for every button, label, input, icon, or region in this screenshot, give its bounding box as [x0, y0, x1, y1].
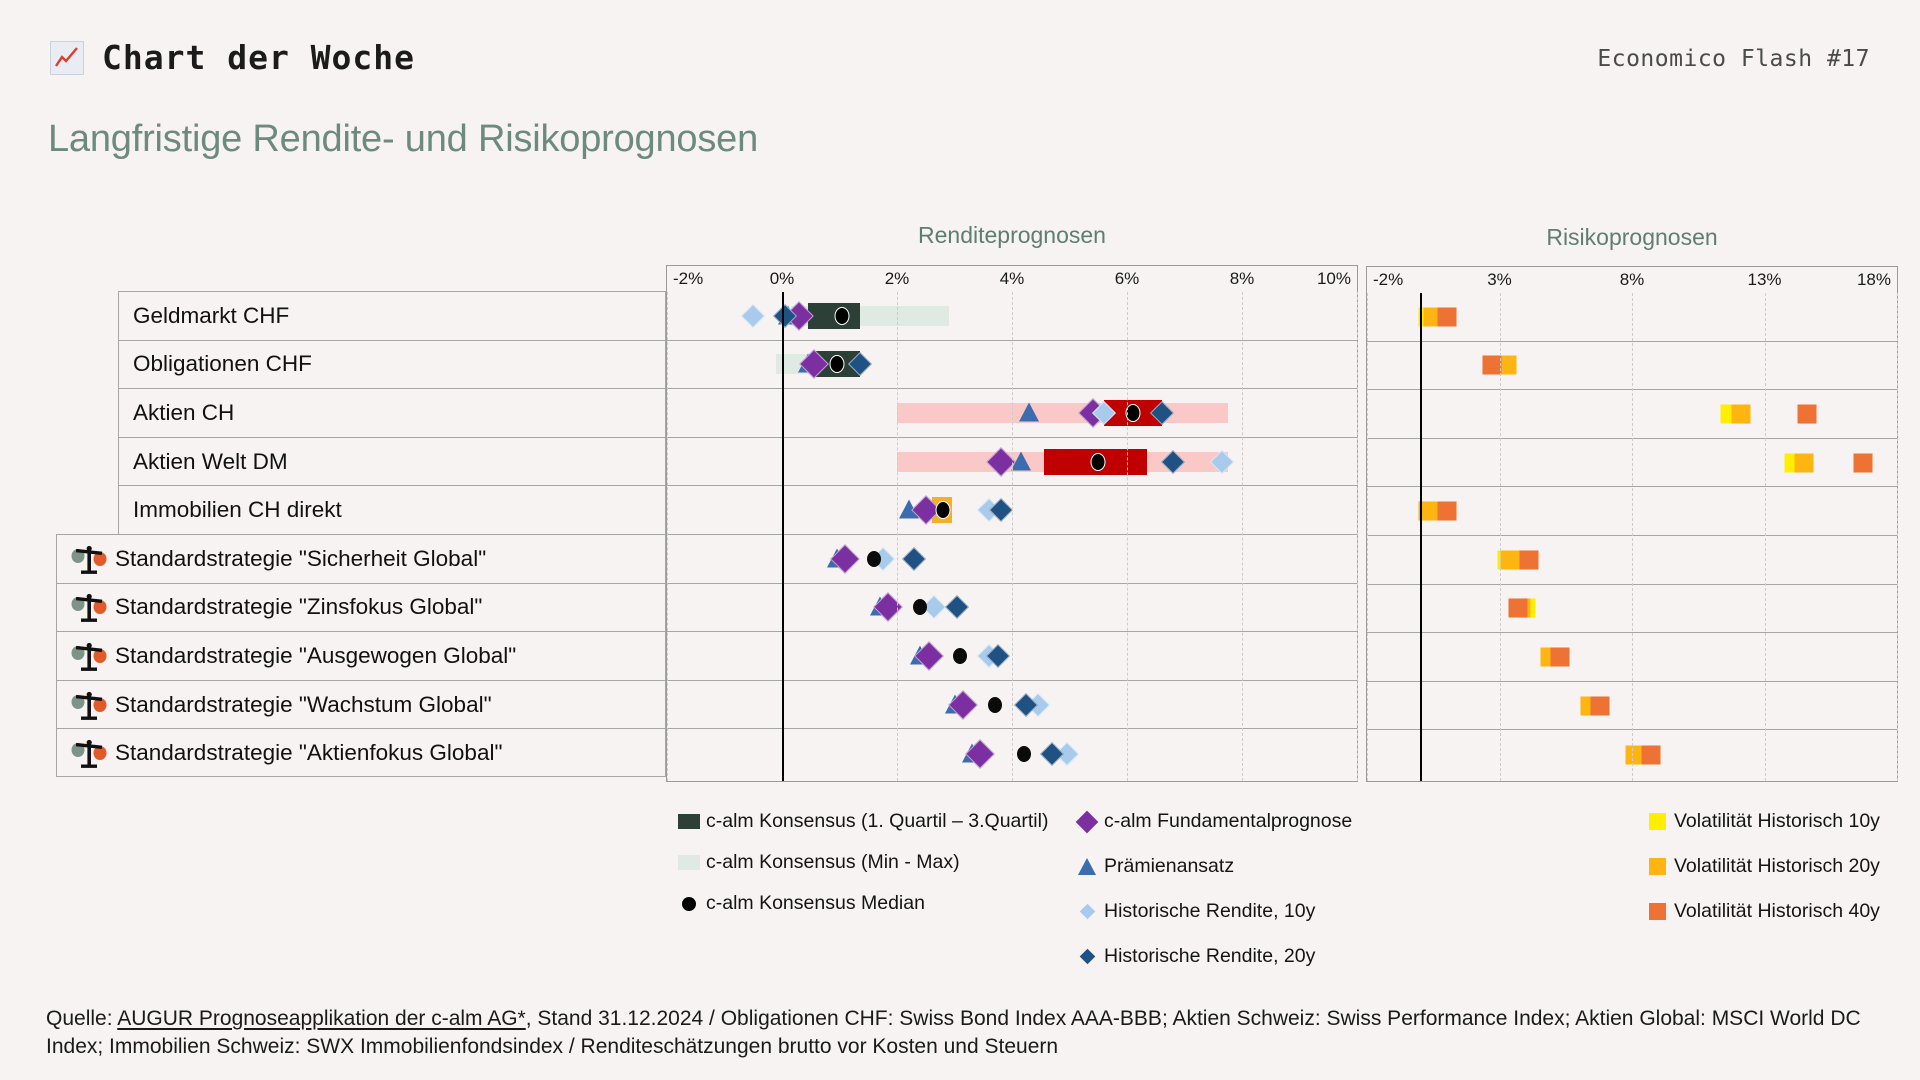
brand-row: Chart der Woche [50, 38, 415, 77]
tick-label: 4% [1000, 269, 1025, 289]
row-label-7[interactable]: Standardstrategie "Ausgewogen Global" [56, 631, 666, 680]
line-chart-icon [50, 41, 84, 75]
legend-swatch-square [1649, 903, 1666, 920]
volatility-marker [1641, 745, 1660, 764]
legend-swatch-wrap [1070, 814, 1104, 830]
tick-label: -2% [1373, 270, 1403, 290]
row-label-text: Geldmarkt CHF [133, 303, 289, 329]
tick-label: 8% [1230, 269, 1255, 289]
legend-swatch-wrap [1070, 906, 1104, 917]
grid-line [1357, 292, 1358, 781]
risiko-panel-title: Risikoprognosen [1366, 224, 1898, 251]
legend-swatch-wrap [1640, 903, 1674, 920]
grid-line [897, 292, 898, 781]
row-label-6[interactable]: Standardstrategie "Zinsfokus Global" [56, 583, 666, 632]
legend-forecasts: c-alm FundamentalprognosePrämienansatzHi… [1070, 810, 1352, 990]
tick-label: -2% [673, 269, 703, 289]
hist10-marker [741, 304, 765, 328]
legend-consensus: c-alm Konsensus (1. Quartil – 3.Quartil)… [672, 810, 1048, 933]
legend-swatch-diamond [1079, 949, 1095, 965]
legend-label: Volatilität Historisch 20y [1674, 855, 1880, 878]
median-marker [936, 501, 951, 519]
page-header: Chart der Woche Economico Flash #17 Lang… [0, 0, 1920, 180]
tick-label: 8% [1620, 270, 1645, 290]
volatility-marker [1437, 502, 1456, 521]
tick-label: 0% [770, 269, 795, 289]
legend-swatch-square [1649, 813, 1666, 830]
row-label-5[interactable]: Standardstrategie "Sicherheit Global" [56, 534, 666, 583]
row-label-text: Aktien CH [133, 400, 234, 426]
legend-label: Prämienansatz [1104, 855, 1234, 878]
row-label-table: Geldmarkt CHFObligationen CHFAktien CHAk… [118, 291, 666, 777]
legend-swatch-square [1649, 858, 1666, 875]
volatility-marker [1437, 307, 1456, 326]
legend-swatch-wrap [672, 814, 706, 829]
legend-swatch-triangle [1078, 858, 1096, 875]
legend-label: Historische Rendite, 10y [1104, 900, 1315, 923]
volatility-marker [1731, 404, 1750, 423]
grid-line [1012, 292, 1013, 781]
source-prefix: Quelle: [46, 1007, 117, 1030]
grid-line [667, 292, 668, 781]
legend-item[interactable]: c-alm Konsensus (Min - Max) [672, 851, 1048, 874]
legend-item[interactable]: Volatilität Historisch 10y [1640, 810, 1880, 833]
tick-label: 13% [1747, 270, 1781, 290]
volatility-marker [1519, 550, 1538, 569]
tick-label: 18% [1857, 270, 1891, 290]
page-subtitle: Langfristige Rendite- und Risikoprognose… [48, 118, 758, 161]
row-label-text: Standardstrategie "Sicherheit Global" [115, 546, 486, 572]
row-label-text: Aktien Welt DM [133, 449, 288, 475]
tick-label: 10% [1317, 269, 1351, 289]
row-label-text: Standardstrategie "Wachstum Global" [115, 692, 492, 718]
row-label-3[interactable]: Aktien Welt DM [118, 437, 666, 486]
grid-line [1127, 292, 1128, 781]
legend-label: Volatilität Historisch 40y [1674, 900, 1880, 923]
balance-scale-icon [69, 736, 109, 770]
row-label-text: Immobilien CH direkt [133, 497, 342, 523]
balance-scale-icon [69, 542, 109, 576]
risikoprognosen-chart: -2%3%8%13%18% [1366, 266, 1898, 782]
grid-line [1897, 293, 1898, 781]
volatility-marker [1551, 647, 1570, 666]
legend-item[interactable]: c-alm Fundamentalprognose [1070, 810, 1352, 833]
volatility-marker [1501, 550, 1520, 569]
tick-label: 3% [1487, 270, 1512, 290]
source-note: Quelle: AUGUR Prognoseapplikation der c-… [46, 1005, 1886, 1062]
legend-swatch-diamond [1076, 810, 1099, 833]
legend-volatility: Volatilität Historisch 10yVolatilität Hi… [1640, 810, 1880, 945]
legend-label: Historische Rendite, 20y [1104, 945, 1315, 968]
median-marker [913, 599, 927, 615]
legend-item[interactable]: Historische Rendite, 10y [1070, 900, 1352, 923]
row-label-2[interactable]: Aktien CH [118, 388, 666, 437]
legend-swatch-rect [678, 814, 700, 829]
consensus-iqr-bar [808, 303, 860, 329]
consensus-minmax-bar [897, 403, 1228, 423]
legend-label: c-alm Konsensus (1. Quartil – 3.Quartil) [706, 810, 1048, 833]
source-link[interactable]: AUGUR Prognoseapplikation der c-alm AG* [117, 1007, 526, 1030]
legend-swatch-wrap [672, 855, 706, 870]
legend-item[interactable]: Volatilität Historisch 40y [1640, 900, 1880, 923]
zero-line [1420, 293, 1422, 781]
risiko-x-axis: -2%3%8%13%18% [1367, 267, 1897, 293]
grid-line [1632, 293, 1633, 781]
row-label-4[interactable]: Immobilien CH direkt [118, 485, 666, 534]
balance-scale-icon [69, 590, 109, 624]
legend-swatch-wrap [1070, 858, 1104, 875]
balance-scale-icon [69, 688, 109, 722]
rendite-x-axis: -2%0%2%4%6%8%10% [667, 266, 1357, 292]
grid-line [1367, 293, 1368, 781]
flash-issue-label: Economico Flash #17 [1597, 46, 1870, 72]
row-label-1[interactable]: Obligationen CHF [118, 340, 666, 389]
row-label-text: Standardstrategie "Zinsfokus Global" [115, 594, 482, 620]
legend-label: c-alm Konsensus (Min - Max) [706, 851, 960, 874]
legend-item[interactable]: Volatilität Historisch 20y [1640, 855, 1880, 878]
legend-swatch-wrap [1070, 951, 1104, 962]
tick-label: 6% [1115, 269, 1140, 289]
hist20-marker [902, 547, 926, 571]
hist20-marker [1040, 742, 1064, 766]
hist20-marker [945, 595, 969, 619]
legend-label: Volatilität Historisch 10y [1674, 810, 1880, 833]
median-marker [1017, 746, 1031, 762]
row-label-8[interactable]: Standardstrategie "Wachstum Global" [56, 680, 666, 729]
volatility-marker [1853, 453, 1872, 472]
legend-label: c-alm Fundamentalprognose [1104, 810, 1352, 833]
volatility-marker [1797, 404, 1816, 423]
legend-swatch-rect [678, 855, 700, 870]
zero-line [782, 292, 784, 781]
legend-item[interactable]: Prämienansatz [1070, 855, 1352, 878]
legend-item[interactable]: c-alm Konsensus (1. Quartil – 3.Quartil) [672, 810, 1048, 833]
premium-marker [1019, 403, 1039, 422]
median-marker [835, 307, 850, 325]
grid-line [1242, 292, 1243, 781]
volatility-marker [1795, 453, 1814, 472]
median-marker [953, 648, 967, 664]
legend-swatch-dot [682, 897, 696, 911]
row-label-text: Obligationen CHF [133, 351, 312, 377]
grid-line [1765, 293, 1766, 781]
median-marker [988, 697, 1002, 713]
legend-swatch-diamond [1079, 904, 1095, 920]
volatility-marker [1509, 599, 1528, 618]
grid-line [1500, 293, 1501, 781]
legend-item[interactable]: Historische Rendite, 20y [1070, 945, 1352, 968]
row-label-0[interactable]: Geldmarkt CHF [118, 291, 666, 340]
rendite-panel-title: Renditeprognosen [666, 222, 1358, 249]
volatility-marker [1482, 356, 1501, 375]
row-label-9[interactable]: Standardstrategie "Aktienfokus Global" [56, 728, 666, 777]
volatility-marker [1591, 696, 1610, 715]
legend-swatch-wrap [672, 897, 706, 911]
tick-label: 2% [885, 269, 910, 289]
legend-label: c-alm Konsensus Median [706, 892, 925, 915]
legend-swatch-wrap [1640, 858, 1674, 875]
row-label-text: Standardstrategie "Aktienfokus Global" [115, 740, 502, 766]
legend-swatch-wrap [1640, 813, 1674, 830]
row-label-text: Standardstrategie "Ausgewogen Global" [115, 643, 516, 669]
legend-item[interactable]: c-alm Konsensus Median [672, 892, 1048, 915]
renditeprognosen-chart: -2%0%2%4%6%8%10% [666, 265, 1358, 782]
balance-scale-icon [69, 639, 109, 673]
brand-title: Chart der Woche [102, 38, 415, 77]
median-marker [829, 355, 844, 373]
median-marker [1091, 453, 1106, 471]
median-marker [867, 551, 881, 567]
